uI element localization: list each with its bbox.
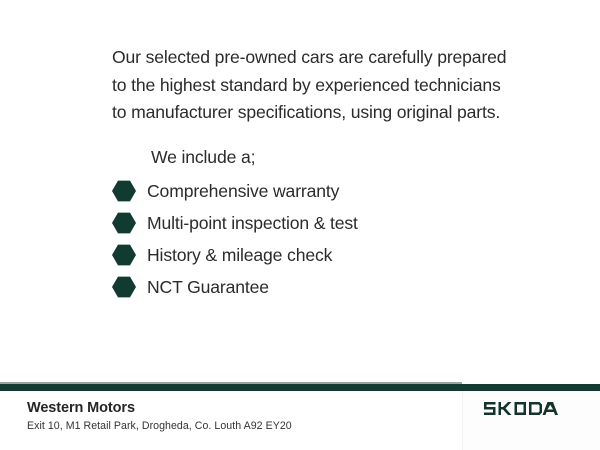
- dealer-address: Exit 10, M1 Retail Park, Drogheda, Co. L…: [27, 420, 292, 433]
- body-content: Our selected pre-owned cars are carefull…: [112, 44, 512, 303]
- footer-divider: [0, 384, 600, 391]
- hexagon-bullet-icon: [112, 180, 136, 202]
- intro-paragraph: Our selected pre-owned cars are carefull…: [112, 44, 512, 127]
- list-item: History & mileage check: [112, 239, 512, 271]
- list-item: Multi-point inspection & test: [112, 207, 512, 239]
- dealer-details: Western Motors Exit 10, M1 Retail Park, …: [27, 399, 292, 433]
- promo-card: Our selected pre-owned cars are carefull…: [0, 0, 600, 450]
- skoda-wordmark-logo: [483, 400, 559, 417]
- inclusions-list: Comprehensive warranty Multi-point inspe…: [112, 175, 512, 303]
- list-item-label: Comprehensive warranty: [147, 180, 339, 202]
- content-spacer: [112, 127, 512, 144]
- hexagon-bullet-icon: [112, 212, 136, 234]
- list-item-label: History & mileage check: [147, 244, 332, 266]
- include-heading: We include a;: [112, 144, 512, 172]
- list-item-label: NCT Guarantee: [147, 276, 269, 298]
- list-item-label: Multi-point inspection & test: [147, 212, 358, 234]
- list-item: Comprehensive warranty: [112, 175, 512, 207]
- dealer-name: Western Motors: [27, 399, 292, 417]
- hexagon-bullet-icon: [112, 276, 136, 298]
- hexagon-bullet-icon: [112, 244, 136, 266]
- list-item: NCT Guarantee: [112, 271, 512, 303]
